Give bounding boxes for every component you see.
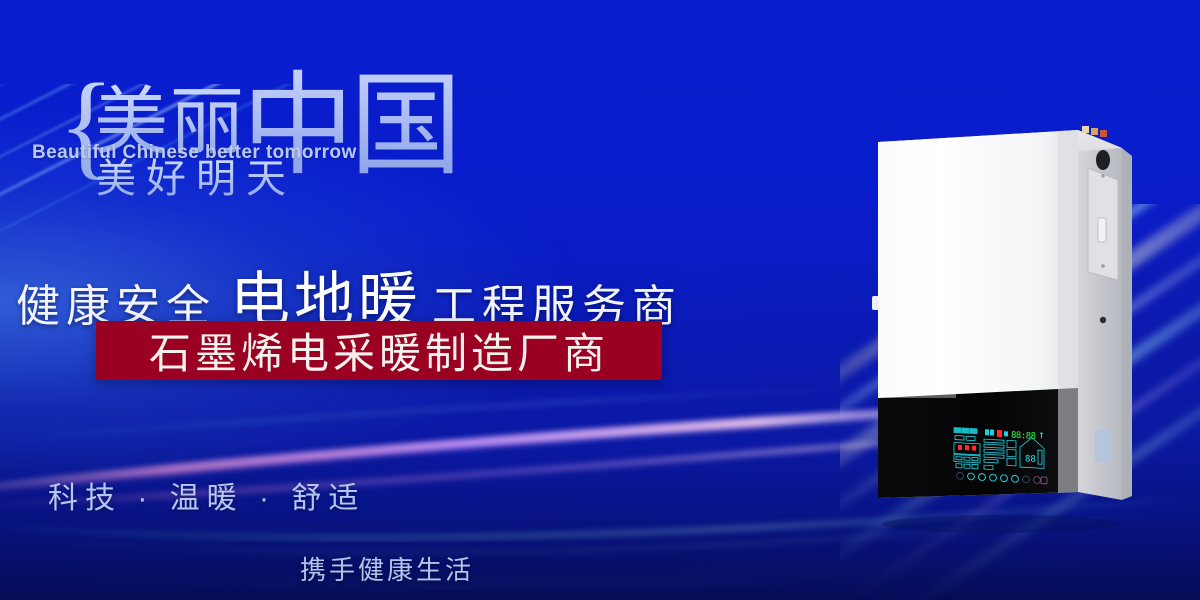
top-connector-icon (1100, 130, 1107, 137)
product-right-edge (1122, 148, 1132, 500)
side-switch-icon (1098, 218, 1106, 242)
top-connector-icon (1082, 126, 1089, 133)
side-screw-icon (1101, 264, 1105, 268)
brand-logo: { 美丽 中国 美好明天 (56, 52, 486, 220)
side-vent-icon (1096, 150, 1110, 170)
lcd-display[interactable]: 88:88 88 (952, 425, 1048, 488)
lcd-house-digits: 88 (1025, 454, 1036, 465)
side-port-icon (1100, 317, 1106, 323)
lcd-main-digits: 88:88 (1011, 431, 1036, 442)
red-banner-text: 石墨烯电采暖制造厂商 (149, 320, 609, 381)
side-screw-icon (1101, 174, 1105, 178)
top-connector-icon (1091, 128, 1098, 135)
tagline-primary: 科技 · 温暖 · 舒适 (48, 473, 365, 517)
logo-english-tagline: Beautiful Chinese better tomorrow (32, 142, 357, 164)
lcd-button-row (957, 472, 1047, 484)
side-window-icon (1095, 430, 1111, 462)
red-banner: 石墨烯电采暖制造厂商 (96, 321, 662, 380)
tagline-secondary: 携手健康生活 (300, 550, 474, 587)
lcd-signal-icon (1040, 433, 1043, 438)
banner-canvas: { 美丽 中国 美好明天 Beautiful Chinese better to… (0, 0, 1200, 600)
